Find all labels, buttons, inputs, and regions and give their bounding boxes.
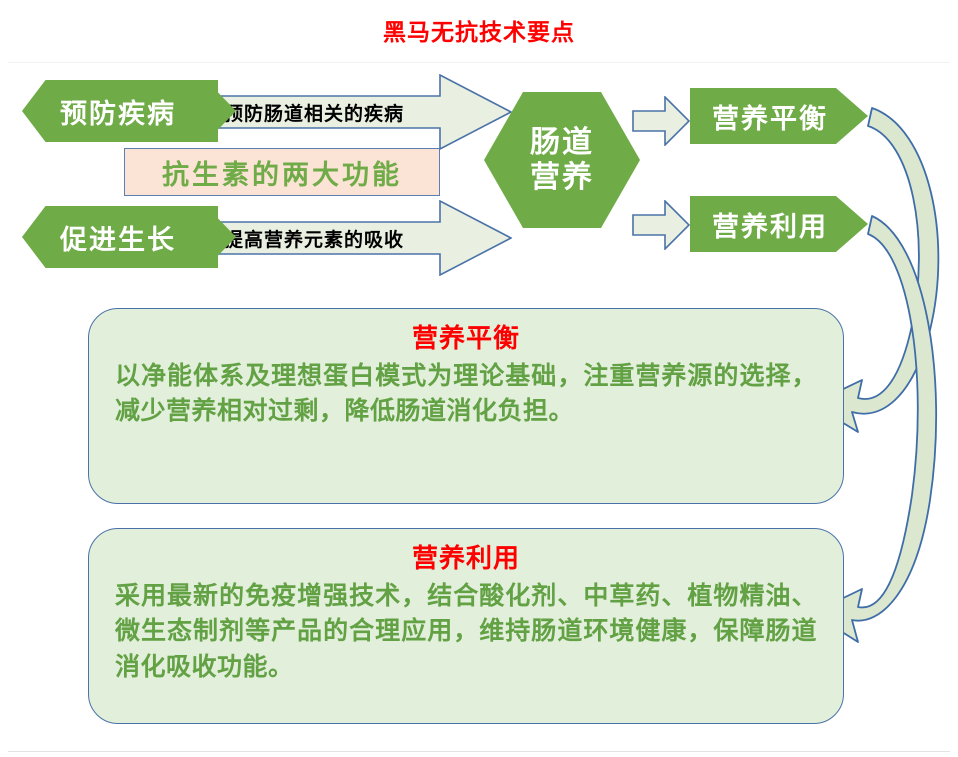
panel-nutrition-utilization-body: 采用最新的免疫增强技术，结合酸化剂、中草药、植物精油、微生态制剂等产品的合理应用… bbox=[115, 578, 817, 685]
small-arrow-to-utilization bbox=[632, 200, 690, 250]
left-chevron-prevent-disease[interactable]: 预防疾病 bbox=[22, 80, 218, 142]
center-hexagon-line2: 营养 bbox=[530, 160, 594, 195]
small-arrow-to-balance bbox=[632, 96, 690, 146]
panel-nutrition-balance[interactable]: 营养平衡 以净能体系及理想蛋白模式为理论基础，注重营养源的选择，减少营养相对过剩… bbox=[88, 308, 844, 504]
panel-nutrition-balance-body: 以净能体系及理想蛋白模式为理论基础，注重营养源的选择，减少营养相对过剩，降低肠道… bbox=[115, 358, 817, 429]
center-hexagon-label: 肠道营养 bbox=[530, 125, 594, 196]
left-chevron-prevent-disease-label: 预防疾病 bbox=[60, 92, 176, 131]
callout-arrow-2-label: 提高营养元素的吸收 bbox=[224, 221, 439, 255]
top-divider bbox=[8, 62, 950, 63]
left-chevron-promote-growth[interactable]: 促进生长 bbox=[22, 206, 218, 268]
right-pentagon-nutrition-balance-label: 营养平衡 bbox=[712, 97, 828, 136]
bottom-divider bbox=[8, 751, 950, 752]
right-pentagon-nutrition-utilization[interactable]: 营养利用 bbox=[690, 196, 868, 252]
antibiotic-functions-box[interactable]: 抗生素的两大功能 bbox=[124, 148, 440, 196]
antibiotic-functions-label: 抗生素的两大功能 bbox=[162, 153, 402, 192]
slide-canvas: 黑马无抗技术要点 预防肠道相关的疾病 提高营养元素的吸收 预防疾病 促进生长 抗… bbox=[0, 0, 958, 757]
panel-nutrition-balance-title: 营养平衡 bbox=[115, 323, 817, 356]
callout-arrow-1-label: 预防肠道相关的疾病 bbox=[224, 95, 439, 129]
left-chevron-promote-growth-label: 促进生长 bbox=[60, 218, 176, 257]
right-pentagon-nutrition-balance[interactable]: 营养平衡 bbox=[690, 88, 868, 144]
panel-nutrition-utilization-title: 营养利用 bbox=[115, 543, 817, 576]
center-hexagon-line1: 肠道 bbox=[530, 125, 594, 160]
right-pentagon-nutrition-utilization-label: 营养利用 bbox=[712, 205, 828, 244]
panel-nutrition-utilization[interactable]: 营养利用 采用最新的免疫增强技术，结合酸化剂、中草药、植物精油、微生态制剂等产品… bbox=[88, 528, 844, 724]
page-title: 黑马无抗技术要点 bbox=[0, 20, 958, 48]
